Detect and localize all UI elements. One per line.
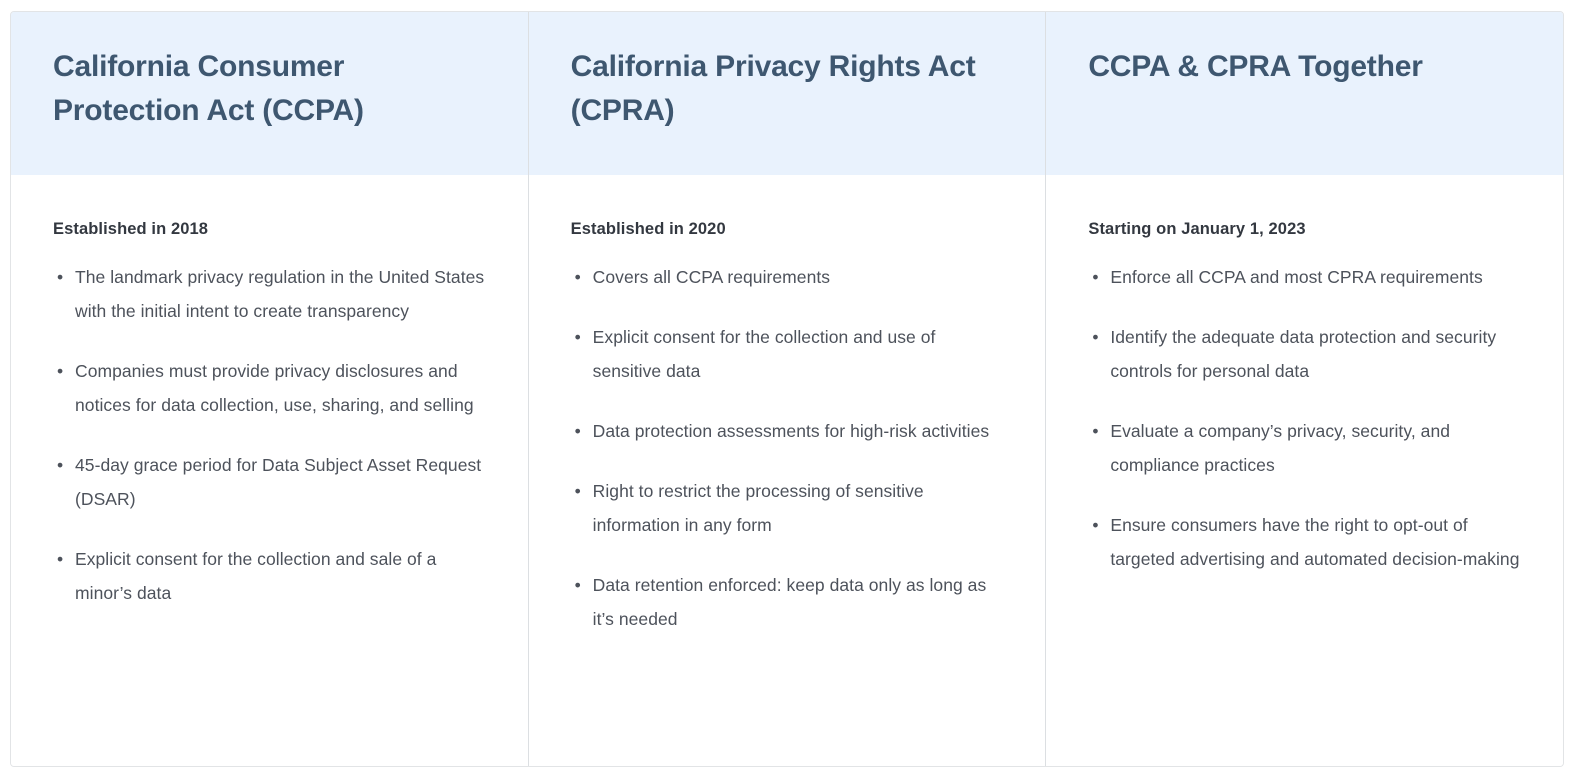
list-item: • Companies must provide privacy disclos… xyxy=(53,355,486,423)
list-item: • The landmark privacy regulation in the… xyxy=(53,261,486,329)
bullet-dot-icon: • xyxy=(575,415,581,449)
comparison-column-together: CCPA & CPRA Together Starting on January… xyxy=(1046,12,1563,766)
list-item: • Identify the adequate data protection … xyxy=(1088,321,1521,389)
column-title-cpra: California Privacy Rights Act (CPRA) xyxy=(571,45,1004,134)
bullet-dot-icon: • xyxy=(575,475,581,509)
list-item: • Explicit consent for the collection an… xyxy=(571,321,1004,389)
bullet-dot-icon: • xyxy=(575,569,581,603)
bullet-list-ccpa: • The landmark privacy regulation in the… xyxy=(53,261,486,611)
column-header-cpra: California Privacy Rights Act (CPRA) xyxy=(529,12,1046,175)
bullet-list-together: • Enforce all CCPA and most CPRA require… xyxy=(1088,261,1521,577)
list-item: • Explicit consent for the collection an… xyxy=(53,543,486,611)
column-body-together: Starting on January 1, 2023 • Enforce al… xyxy=(1046,175,1563,766)
bullet-dot-icon: • xyxy=(57,261,63,295)
bullet-dot-icon: • xyxy=(57,543,63,577)
list-item-text: Identify the adequate data protection an… xyxy=(1110,321,1521,389)
column-title-together: CCPA & CPRA Together xyxy=(1088,45,1521,89)
column-subtitle-together: Starting on January 1, 2023 xyxy=(1088,218,1521,241)
column-body-ccpa: Established in 2018 • The landmark priva… xyxy=(11,175,528,766)
list-item-text: Covers all CCPA requirements xyxy=(593,261,1004,295)
list-item-text: 45-day grace period for Data Subject Ass… xyxy=(75,449,486,517)
column-subtitle-ccpa: Established in 2018 xyxy=(53,218,486,241)
list-item-text: Ensure consumers have the right to opt-o… xyxy=(1110,509,1521,577)
bullet-dot-icon: • xyxy=(575,321,581,355)
list-item-text: Data retention enforced: keep data only … xyxy=(593,569,1004,637)
bullet-dot-icon: • xyxy=(1092,509,1098,543)
bullet-dot-icon: • xyxy=(57,449,63,483)
list-item-text: Data protection assessments for high-ris… xyxy=(593,415,1004,449)
list-item-text: The landmark privacy regulation in the U… xyxy=(75,261,486,329)
list-item: • Enforce all CCPA and most CPRA require… xyxy=(1088,261,1521,295)
list-item: • Right to restrict the processing of se… xyxy=(571,475,1004,543)
bullet-dot-icon: • xyxy=(57,355,63,389)
list-item: • Evaluate a company’s privacy, security… xyxy=(1088,415,1521,483)
list-item: • Ensure consumers have the right to opt… xyxy=(1088,509,1521,577)
column-header-ccpa: California Consumer Protection Act (CCPA… xyxy=(11,12,528,175)
column-header-together: CCPA & CPRA Together xyxy=(1046,12,1563,175)
list-item: • Data retention enforced: keep data onl… xyxy=(571,569,1004,637)
comparison-column-cpra: California Privacy Rights Act (CPRA) Est… xyxy=(529,12,1047,766)
list-item-text: Explicit consent for the collection and … xyxy=(75,543,486,611)
bullet-dot-icon: • xyxy=(1092,415,1098,449)
bullet-list-cpra: • Covers all CCPA requirements • Explici… xyxy=(571,261,1004,637)
bullet-dot-icon: • xyxy=(1092,321,1098,355)
list-item: • Covers all CCPA requirements xyxy=(571,261,1004,295)
comparison-column-ccpa: California Consumer Protection Act (CCPA… xyxy=(11,12,529,766)
bullet-dot-icon: • xyxy=(1092,261,1098,295)
column-title-ccpa: California Consumer Protection Act (CCPA… xyxy=(53,45,486,134)
ccpa-cpra-comparison-card: California Consumer Protection Act (CCPA… xyxy=(10,11,1564,767)
column-body-cpra: Established in 2020 • Covers all CCPA re… xyxy=(529,175,1046,766)
list-item: • 45-day grace period for Data Subject A… xyxy=(53,449,486,517)
list-item: • Data protection assessments for high-r… xyxy=(571,415,1004,449)
bullet-dot-icon: • xyxy=(575,261,581,295)
column-subtitle-cpra: Established in 2020 xyxy=(571,218,1004,241)
list-item-text: Enforce all CCPA and most CPRA requireme… xyxy=(1110,261,1521,295)
list-item-text: Explicit consent for the collection and … xyxy=(593,321,1004,389)
list-item-text: Evaluate a company’s privacy, security, … xyxy=(1110,415,1521,483)
list-item-text: Companies must provide privacy disclosur… xyxy=(75,355,486,423)
list-item-text: Right to restrict the processing of sens… xyxy=(593,475,1004,543)
